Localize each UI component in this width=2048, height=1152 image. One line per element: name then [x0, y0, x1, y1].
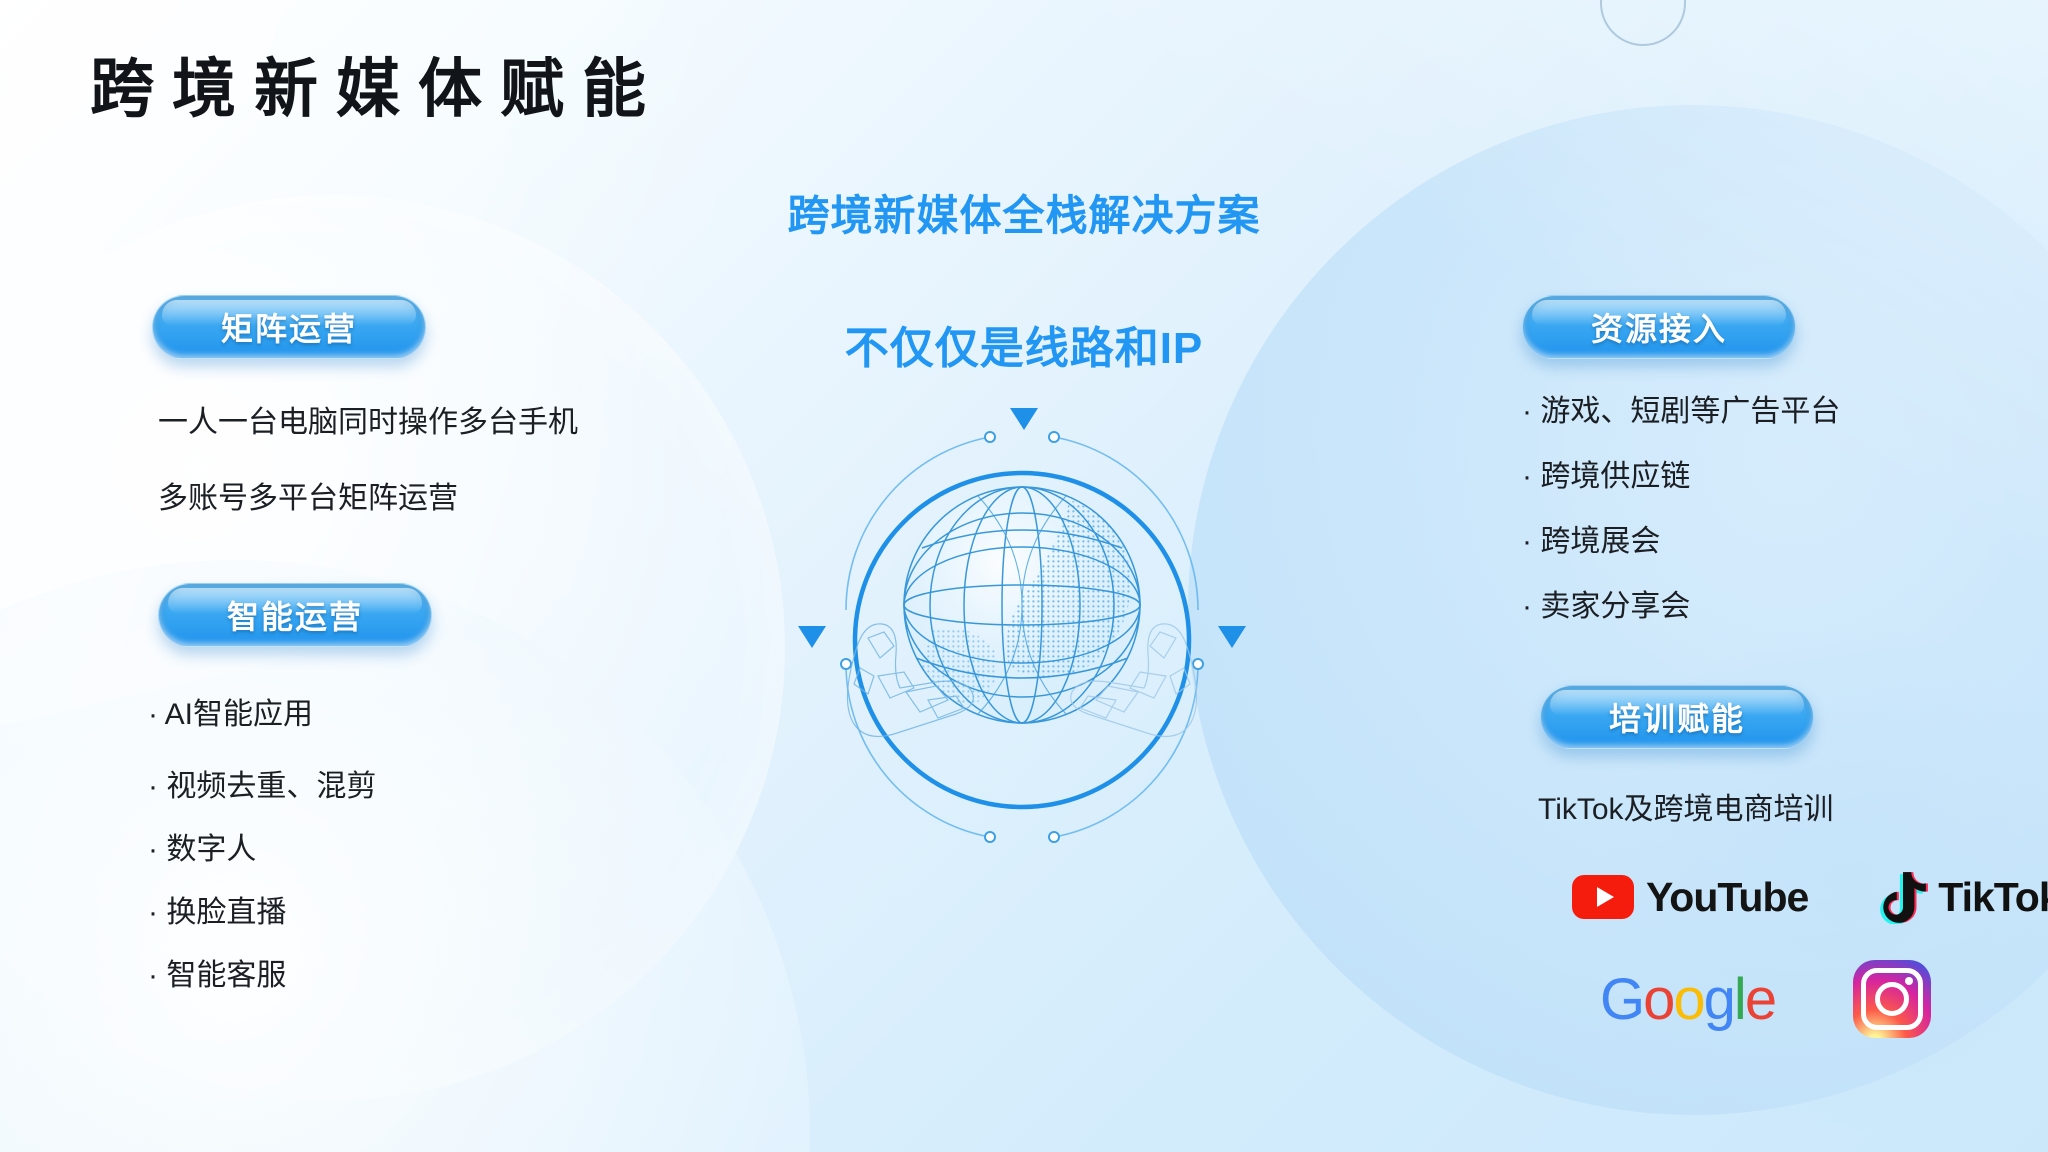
- pill-label: 矩阵运营: [221, 304, 357, 350]
- youtube-icon: [1572, 875, 1634, 919]
- pill-resource-access[interactable]: 资源接入: [1522, 295, 1796, 359]
- right-item-0-2: · 跨境展会: [1522, 527, 1660, 557]
- left-item-0-1: 多账号多平台矩阵运营: [158, 484, 458, 514]
- left-item-1-4: · 智能客服: [148, 961, 286, 991]
- background-ring-icon: [1600, 0, 1686, 46]
- pill-label: 资源接入: [1591, 304, 1727, 350]
- tiktok-icon: [1878, 870, 1928, 924]
- left-item-1-2: · 数字人: [148, 835, 256, 865]
- pill-label: 智能运营: [227, 592, 363, 638]
- left-item-1-0: · AI智能应用: [148, 700, 313, 730]
- logo-row-bottom: Google: [1600, 960, 1931, 1038]
- tiktok-logo[interactable]: TikTok: [1878, 870, 2048, 924]
- left-item-1-1: · 视频去重、混剪: [148, 772, 376, 802]
- page-title: 跨境新媒体赋能: [90, 38, 664, 130]
- instagram-icon[interactable]: [1853, 960, 1931, 1038]
- globe-illustration: [782, 400, 1262, 880]
- center-heading-secondary: 不仅仅是线路和IP: [845, 312, 1204, 376]
- pill-smart-operations[interactable]: 智能运营: [158, 583, 432, 647]
- youtube-wordmark: YouTube: [1646, 874, 1808, 921]
- youtube-logo[interactable]: YouTube: [1572, 874, 1808, 921]
- left-item-1-3: · 换脸直播: [148, 898, 286, 928]
- pill-matrix-operations[interactable]: 矩阵运营: [152, 295, 426, 359]
- center-heading-primary: 跨境新媒体全栈解决方案: [787, 182, 1260, 243]
- pill-label: 培训赋能: [1609, 694, 1745, 740]
- logo-row-top: YouTube TikTok: [1572, 870, 2048, 924]
- slide-canvas: 跨境新媒体赋能 跨境新媒体全栈解决方案 不仅仅是线路和IP 矩阵运营 一人一台电…: [0, 0, 2048, 1152]
- right-item-0-1: · 跨境供应链: [1522, 462, 1690, 492]
- right-item-0-3: · 卖家分享会: [1522, 592, 1690, 622]
- google-logo[interactable]: Google: [1600, 966, 1775, 1033]
- pill-training-empowerment[interactable]: 培训赋能: [1540, 685, 1814, 749]
- right-item-1-0: TikTok及跨境电商培训: [1538, 795, 1834, 825]
- tiktok-wordmark: TikTok: [1938, 874, 2048, 921]
- left-item-0-0: 一人一台电脑同时操作多台手机: [158, 408, 578, 438]
- right-item-0-0: · 游戏、短剧等广告平台: [1522, 397, 1840, 427]
